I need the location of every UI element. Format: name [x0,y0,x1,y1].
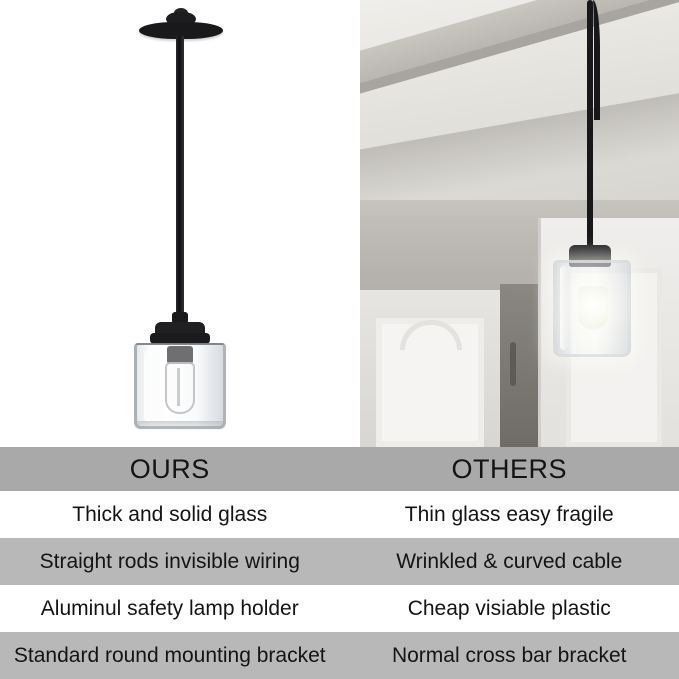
product-photo-ours [0,0,360,447]
cell-ours-4: Standard round mounting bracket [0,632,340,679]
bulb-glass [165,362,195,414]
cell-others-2: Wrinkled & curved cable [340,538,679,585]
glass-highlight-others [560,266,568,350]
table-row: Standard round mounting bracket Normal c… [0,632,679,679]
bulb-filament [177,368,180,406]
comparison-table: OURS OTHERS Thick and solid glass Thin g… [0,447,679,679]
table-row: Straight rods invisible wiring Wrinkled … [0,538,679,585]
photo-strip [0,0,679,447]
cell-others-3: Cheap visiable plastic [340,585,679,632]
table-row: Aluminul safety lamp holder Cheap visiab… [0,585,679,632]
cell-ours-1: Thick and solid glass [0,491,340,538]
header-ours: OURS [0,447,340,491]
cell-ours-2: Straight rods invisible wiring [0,538,340,585]
comparison-infographic: OURS OTHERS Thick and solid glass Thin g… [0,0,679,679]
hanging-cord [587,0,593,258]
straight-rod [176,36,184,326]
table-header-row: OURS OTHERS [0,447,679,491]
cabinet-handle [510,342,516,386]
glass-shadow [134,421,226,431]
glass-highlight [144,350,154,422]
installed-photo-others [360,0,679,447]
lit-bulb [578,286,608,330]
header-others: OTHERS [340,447,679,491]
cell-others-1: Thin glass easy fragile [340,491,679,538]
table-row: Thick and solid glass Thin glass easy fr… [0,491,679,538]
cabinet-gap-shadow [500,284,538,447]
cell-ours-3: Aluminul safety lamp holder [0,585,340,632]
cell-others-4: Normal cross bar bracket [340,632,679,679]
